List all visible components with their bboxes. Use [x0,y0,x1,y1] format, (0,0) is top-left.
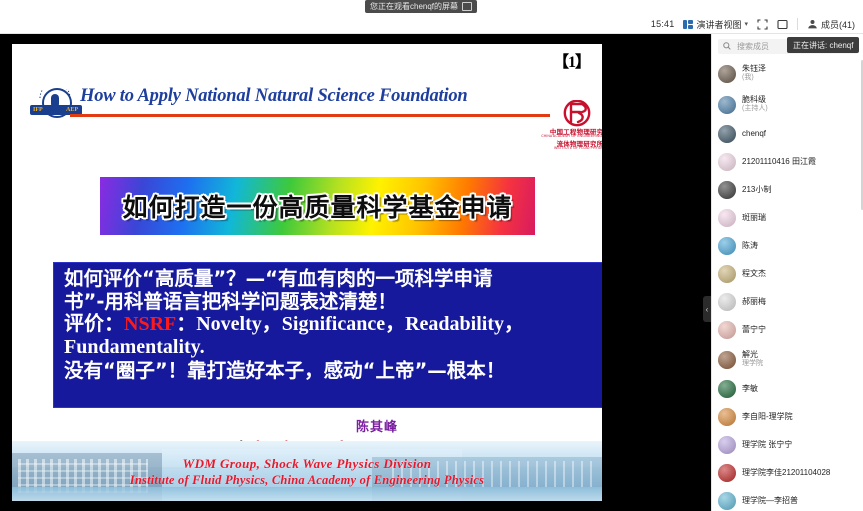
rainbow-banner: 如何打造一份高质量科学基金申请 [100,177,535,235]
avatar [718,293,736,311]
caep-en-line1: CHINA ACADEMY OF ENGINEERING PHYSICS [540,134,602,138]
participant-row[interactable]: chenqf [712,120,863,148]
participant-row[interactable]: 21201110416 田江霞 [712,148,863,176]
participant-name: 李敏 [742,384,758,394]
participant-name-wrap: 程文杰 [742,269,766,279]
participant-name-wrap: 李自阳-理学院 [742,412,793,422]
slide-footer-photo: WDM Group, Shock Wave Physics Division I… [12,441,602,501]
photo-water [12,487,602,501]
avatar [718,492,736,510]
participant-name: 理学院李佳21201104028 [742,468,830,478]
avatar [718,209,736,227]
avatar [718,181,736,199]
window-icon[interactable] [777,19,788,30]
members-button[interactable]: 成员(41) [807,18,855,31]
members-label: 成员(41) [821,18,855,31]
participant-name-wrap: 解光理学院 [742,350,763,369]
participant-row[interactable]: 斑丽瑞 [712,204,863,232]
participant-row[interactable]: 程文杰 [712,260,863,288]
participant-row[interactable]: 蕾宁宁 [712,316,863,344]
collapse-panel-button[interactable]: ‹ [703,296,711,322]
participant-name: 陈涛 [742,241,758,251]
avatar [718,153,736,171]
view-mode-label: 演讲者视图 [696,18,741,31]
avatar [718,380,736,398]
avatar [718,408,736,426]
participant-name: 21201110416 田江霞 [742,157,816,167]
participant-name: 程文杰 [742,269,766,279]
people-icon [807,19,818,29]
footer-line-2: Institute of Fluid Physics, China Academ… [12,473,602,488]
title-underline [70,114,550,117]
participant-row[interactable]: 解光理学院 [712,344,863,375]
participant-role: 理学院 [742,360,763,369]
notification-text: 您正在观看chenqf的屏幕 [370,1,458,12]
meeting-window: 您正在观看chenqf的屏幕 15:41 演讲者视图 ▾ [0,0,863,511]
participants-panel: 正在讲话: chenqf 朱钰泽(我)脆科级(主持人)chenqf2120111… [711,34,863,511]
avatar [718,436,736,454]
presenter-name: 陈其峰 [212,416,542,435]
screen-share-icon[interactable] [462,2,472,11]
caep-logo-mark-icon [562,100,592,127]
notification-bar: 您正在观看chenqf的屏幕 [0,0,863,14]
participant-name: 213小制 [742,185,771,195]
key-point-line-5: 没有“圈子”！靠打造好本子，感动“上帝”—根本！ [64,360,602,383]
participants-panel-header: 正在讲话: chenqf [712,34,863,58]
clock: 15:41 [651,19,675,29]
participant-role: (我) [742,74,766,83]
key-point-line-4: Fundamentality. [64,336,602,359]
participant-name: 斑丽瑞 [742,213,766,223]
evaluation-label: 评价： [64,313,124,335]
participant-name: 郝丽梅 [742,297,766,307]
participant-name: 理学院—李招普 [742,496,798,506]
chevron-down-icon[interactable]: ▾ [744,20,748,28]
emblem-left-text: IFP [33,107,43,113]
participant-name-wrap: 理学院—李招普 [742,496,798,506]
toolbar-right-group: 15:41 演讲者视图 ▾ [651,14,863,34]
key-points-box: 如何评价“高质量”？—“有血有肉的一项科学申请 书”-用科普语言把科学问题表述清… [53,262,602,408]
participant-name: chenqf [742,129,766,139]
view-mode-button[interactable]: 演讲者视图 ▾ [683,18,748,31]
slide-title: How to Apply National Natural Science Fo… [80,86,468,107]
participant-name: 理学院 张宁宁 [742,440,792,450]
avatar [718,265,736,283]
nsrf-expansion: ：Novelty，Significance，Readability， [176,313,524,335]
screen-share-notification[interactable]: 您正在观看chenqf的屏幕 [365,0,477,13]
key-point-line-3: 评价：NSRF：Novelty，Significance，Readability… [64,313,602,336]
participant-row[interactable]: 理学院李佳21201104028 [712,459,863,487]
participant-row[interactable]: 理学院 张宁宁 [712,431,863,459]
avatar [718,237,736,255]
caep-institute-logo: 中国工程物理研究院 CHINA ACADEMY OF ENGINEERING P… [540,100,602,152]
participants-list[interactable]: 朱钰泽(我)脆科级(主持人)chenqf21201110416 田江霞213小制… [712,58,863,511]
participant-name-wrap: chenqf [742,129,766,139]
participant-name-wrap: 李敏 [742,384,758,394]
participant-row[interactable]: 李自阳-理学院 [712,403,863,431]
slide-page-marker: 【1】 [553,48,590,72]
footer-line-1: WDM Group, Shock Wave Physics Division [12,456,602,472]
avatar [718,464,736,482]
participant-row[interactable]: 李敏 [712,375,863,403]
participant-name-wrap: 理学院 张宁宁 [742,440,792,450]
participant-row[interactable]: 陈涛 [712,232,863,260]
nsrf-acronym: NSRF [124,313,176,335]
participant-name-wrap: 脆科级(主持人) [742,95,768,114]
key-point-line-2: 书”-用科普语言把科学问题表述清楚！ [64,291,602,314]
participant-name: 李自阳-理学院 [742,412,793,422]
participant-role: (主持人) [742,105,768,114]
shared-screen-stage[interactable]: 【1】 IFP AEP How to Apply National Natura… [0,34,711,511]
toolbar-divider [797,18,798,30]
participant-name-wrap: 郝丽梅 [742,297,766,307]
speaking-tooltip: 正在讲话: chenqf [787,37,859,53]
key-point-line-1: 如何评价“高质量”？—“有血有肉的一项科学申请 [64,268,602,291]
participant-name: 蕾宁宁 [742,325,766,335]
avatar [718,96,736,114]
participant-row[interactable]: 朱钰泽(我) [712,58,863,89]
rainbow-banner-text: 如何打造一份高质量科学基金申请 [100,177,535,235]
participant-name-wrap: 斑丽瑞 [742,213,766,223]
participant-name-wrap: 21201110416 田江霞 [742,157,816,167]
avatar [718,65,736,83]
meeting-toolbar: 15:41 演讲者视图 ▾ [0,14,863,35]
caep-en-line2: INSTITUTE OF FLUID PHYSICS [540,146,602,150]
participant-row[interactable]: 脆科级(主持人) [712,89,863,120]
avatar [718,125,736,143]
participant-name-wrap: 蕾宁宁 [742,325,766,335]
avatar [718,351,736,369]
participant-name: 朱钰泽 [742,64,766,74]
emblem-right-text: AEP [66,107,78,113]
participant-name-wrap: 朱钰泽(我) [742,64,766,83]
participant-name-wrap: 陈涛 [742,241,758,251]
layout-icon [683,20,693,29]
slide-header: IFP AEP How to Apply National Natural Sc… [22,84,592,126]
avatar [718,321,736,339]
participant-name: 脆科级 [742,95,768,105]
search-icon [723,42,731,50]
participant-name: 解光 [742,350,763,360]
participant-row[interactable]: 理学院—李招普 [712,487,863,511]
participant-name-wrap: 理学院李佳21201104028 [742,468,830,478]
participant-row[interactable]: 郝丽梅 [712,288,863,316]
participant-name-wrap: 213小制 [742,185,771,195]
fullscreen-icon[interactable] [757,19,768,30]
presentation-slide: 【1】 IFP AEP How to Apply National Natura… [12,44,602,501]
participant-row[interactable]: 213小制 [712,176,863,204]
